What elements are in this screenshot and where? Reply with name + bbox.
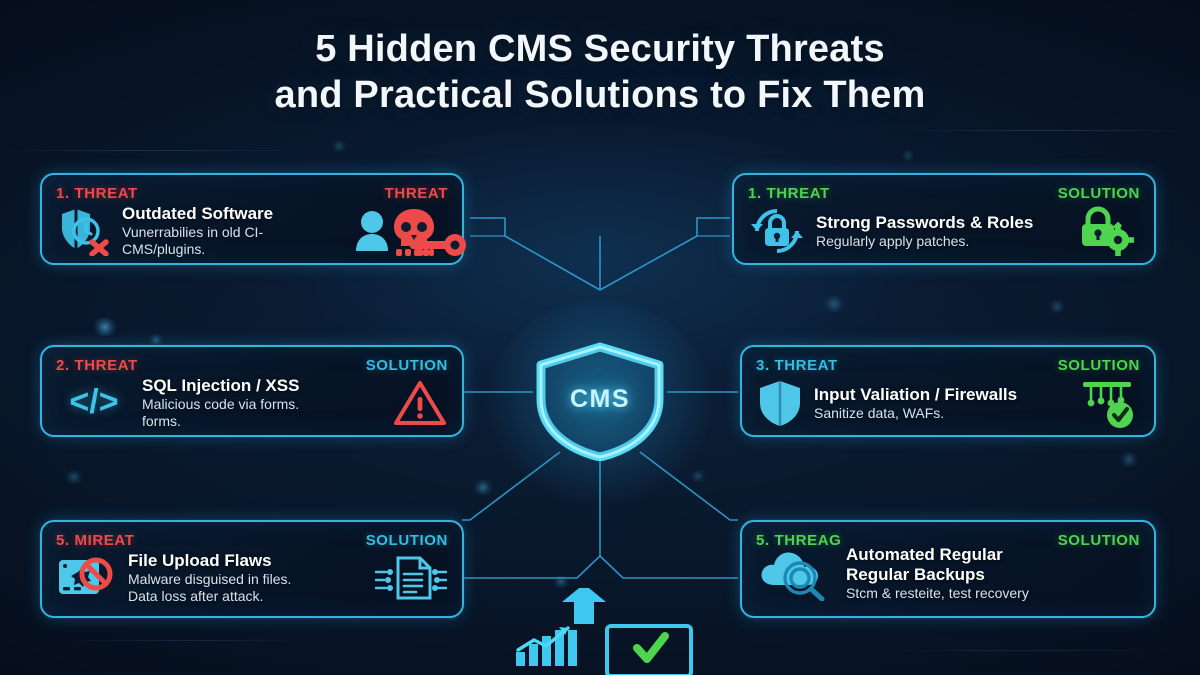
card-desc-line-1: Vunerrabilies in old CI- xyxy=(122,224,342,241)
card-left-tag: 2. THREAT xyxy=(56,357,138,374)
card-header: 2. THREAT SOLUTION xyxy=(56,357,448,374)
page-title: 5 Hidden CMS Security Threats and Practi… xyxy=(0,26,1200,119)
key-icon xyxy=(408,232,468,258)
lock-gear-icon xyxy=(1074,204,1140,258)
card-description: Regularly apply patches. xyxy=(816,233,1064,250)
card-text: Automated Regular Regular Backups Stcm &… xyxy=(846,545,1140,602)
title-line-2: and Practical Solutions to Fix Them xyxy=(0,72,1200,118)
card-title: Automated Regular xyxy=(846,545,1003,564)
bottom-icon-cluster xyxy=(510,588,700,675)
lock-refresh-icon xyxy=(748,206,806,256)
card-left-tag: 1. THREAT xyxy=(56,185,138,202)
card-desc-line-1: Stcm & resteite, test recovery xyxy=(846,585,1140,602)
card-right-tag: THREAT xyxy=(385,185,448,202)
shield-solid-icon xyxy=(756,378,804,428)
card-body: </> SQL Injection / XSS Malicious code v… xyxy=(56,376,448,429)
card-left-tag: 5. MIREAT xyxy=(56,532,134,549)
firewall-filter-check-icon xyxy=(1080,376,1140,430)
card-description: Sanitize data, WAFs. xyxy=(814,405,1070,422)
infographic-canvas: 5 Hidden CMS Security Threats and Practi… xyxy=(0,0,1200,675)
card-right-tag: SOLUTION xyxy=(366,532,448,549)
title-line-1: 5 Hidden CMS Security Threats xyxy=(315,28,885,70)
card-title: SQL Injection / XSS xyxy=(142,376,299,395)
code-brackets-icon: </> xyxy=(56,383,132,422)
card-body: Outdated Software Vunerrabilies in old C… xyxy=(56,204,448,257)
card-text: SQL Injection / XSS Malicious code via f… xyxy=(142,376,382,429)
card-text: Strong Passwords & Roles Regularly apply… xyxy=(816,213,1064,250)
card-header: 5. MIREAT SOLUTION xyxy=(56,532,448,549)
card-text: Input Valiation / Firewalls Sanitize dat… xyxy=(814,385,1070,422)
card-text: File Upload Flaws Malware disguised in f… xyxy=(128,551,362,604)
card-right-tag: SOLUTION xyxy=(1058,357,1140,374)
bar-chart-growth-icon xyxy=(516,627,577,666)
card-header: 3. THREAT SOLUTION xyxy=(756,357,1140,374)
up-arrow-icon xyxy=(562,588,606,624)
card-sql-injection-xss[interactable]: 2. THREAT SOLUTION </> SQL Injection / X… xyxy=(40,345,464,437)
drive-malware-blocked-icon xyxy=(56,552,118,604)
card-file-upload-flaws[interactable]: 5. MIREAT SOLUTION File Upload Flaws Mal… xyxy=(40,520,464,618)
card-description: Vunerrabilies in old CI- CMS/plugins. xyxy=(122,224,342,257)
card-body: Strong Passwords & Roles Regularly apply… xyxy=(748,204,1140,258)
card-title: File Upload Flaws xyxy=(128,551,272,570)
card-desc-line-1: Malicious code via forms. xyxy=(142,396,382,413)
card-title: Input Valiation / Firewalls xyxy=(814,385,1017,404)
card-left-tag: 1. THREAT xyxy=(748,185,830,202)
warning-triangle-icon xyxy=(392,378,448,428)
monitor-check-icon xyxy=(607,626,691,675)
card-automated-regular-backups[interactable]: 5. THREAG SOLUTION Automated Regular Reg… xyxy=(740,520,1156,618)
card-text: Outdated Software Vunerrabilies in old C… xyxy=(122,204,342,257)
card-header: 1. THREAT SOLUTION xyxy=(748,185,1140,202)
card-desc-line-1: Sanitize data, WAFs. xyxy=(814,405,1070,422)
hub-label: CMS xyxy=(529,385,671,414)
shield-clock-x-icon xyxy=(56,206,112,256)
cloud-search-icon xyxy=(756,545,836,601)
card-desc-line-2: CMS/plugins. xyxy=(122,241,342,258)
cms-hub[interactable]: CMS xyxy=(529,341,671,461)
card-right-tag: SOLUTION xyxy=(1058,185,1140,202)
card-right-tag: SOLUTION xyxy=(366,357,448,374)
card-description: Stcm & resteite, test recovery xyxy=(846,585,1140,602)
card-input-validation-firewalls[interactable]: 3. THREAT SOLUTION Input Valiation / Fir… xyxy=(740,345,1156,437)
card-desc-line-1: Malware disguised in files. xyxy=(128,571,362,588)
card-desc-line-1: Regularly apply patches. xyxy=(816,233,1064,250)
document-transfer-icon xyxy=(372,552,448,604)
card-body: File Upload Flaws Malware disguised in f… xyxy=(56,551,448,604)
card-title: Strong Passwords & Roles xyxy=(816,213,1033,232)
card-description: Malware disguised in files. Data loss af… xyxy=(128,571,362,604)
card-left-tag: 3. THREAT xyxy=(756,357,838,374)
card-outdated-software[interactable]: 1. THREAT THREAT Outdated Software Vuner… xyxy=(40,173,464,265)
card-title-line-2: Regular Backups xyxy=(846,565,985,584)
card-desc-line-2: Data loss after attack. xyxy=(128,588,362,605)
card-title: Outdated Software xyxy=(122,204,273,223)
card-description: Malicious code via forms. forms. xyxy=(142,396,382,429)
card-strong-passwords-roles[interactable]: 1. THREAT SOLUTION Strong Passwords & Ro… xyxy=(732,173,1156,265)
card-body: Input Valiation / Firewalls Sanitize dat… xyxy=(756,376,1140,430)
card-desc-line-2: forms. xyxy=(142,413,382,430)
card-body: Automated Regular Regular Backups Stcm &… xyxy=(756,545,1140,602)
card-header: 1. THREAT THREAT xyxy=(56,185,448,202)
